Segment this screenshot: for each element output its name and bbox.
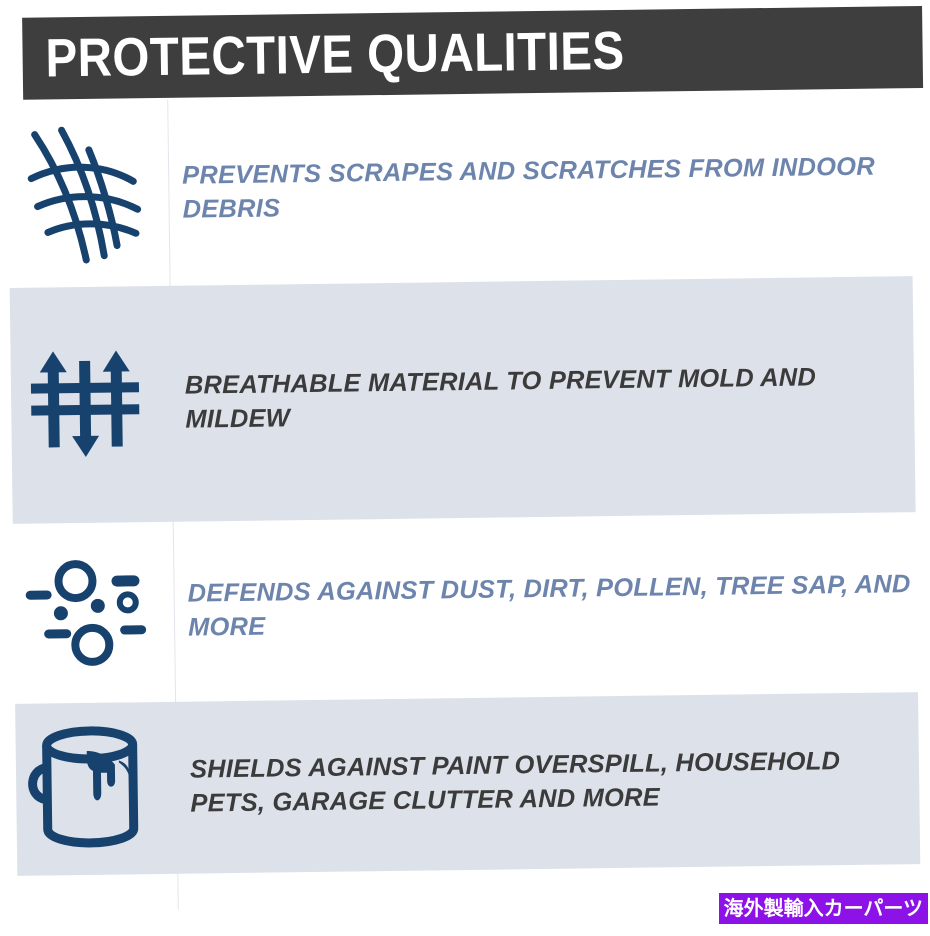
feature-label-3: DEFENDS AGAINST DUST, DIRT, POLLEN, TREE… [187, 569, 912, 646]
feature-row-3: DEFENDS AGAINST DUST, DIRT, POLLEN, TREE… [1, 516, 930, 700]
mesh-net-icon [16, 119, 148, 271]
feature-row-2: BREATHABLE MATERIAL TO PREVENT MOLD AND … [0, 276, 930, 524]
feature-icon-cell-4 [3, 722, 177, 856]
feature-text-cell-2: BREATHABLE MATERIAL TO PREVENT MOLD AND … [171, 360, 930, 437]
feature-icon-cell-1 [0, 119, 169, 271]
paint-can-icon [24, 722, 156, 856]
feature-text-cell-1: PREVENTS SCRAPES AND SCRATCHES FROM INDO… [168, 150, 927, 227]
header-band: PROTECTIVE QUALITIES [22, 6, 923, 100]
dust-particles-icon [23, 558, 152, 668]
feature-row-4: SHIELDS AGAINST PAINT OVERSPILL, HOUSEHO… [3, 692, 930, 876]
page-title: PROTECTIVE QUALITIES [22, 24, 625, 86]
feature-label-1: PREVENTS SCRAPES AND SCRATCHES FROM INDO… [182, 151, 907, 228]
feature-icon-cell-3 [1, 558, 174, 668]
feature-text-cell-4: SHIELDS AGAINST PAINT OVERSPILL, HOUSEHO… [176, 744, 930, 821]
watermark-badge: 海外製輸入カーパーツ [719, 893, 928, 924]
feature-label-2: BREATHABLE MATERIAL TO PREVENT MOLD AND … [185, 361, 910, 438]
feature-icon-cell-2 [0, 344, 172, 466]
feature-label-4: SHIELDS AGAINST PAINT OVERSPILL, HOUSEHO… [190, 744, 915, 821]
feature-text-cell-3: DEFENDS AGAINST DUST, DIRT, POLLEN, TREE… [173, 568, 930, 645]
protective-qualities-infographic: PROTECTIVE QUALITIES PREVENTS SCRAPES AN… [0, 0, 930, 936]
breathable-arrows-icon [24, 344, 146, 466]
feature-row-1: PREVENTS SCRAPES AND SCRATCHES FROM INDO… [0, 94, 928, 286]
